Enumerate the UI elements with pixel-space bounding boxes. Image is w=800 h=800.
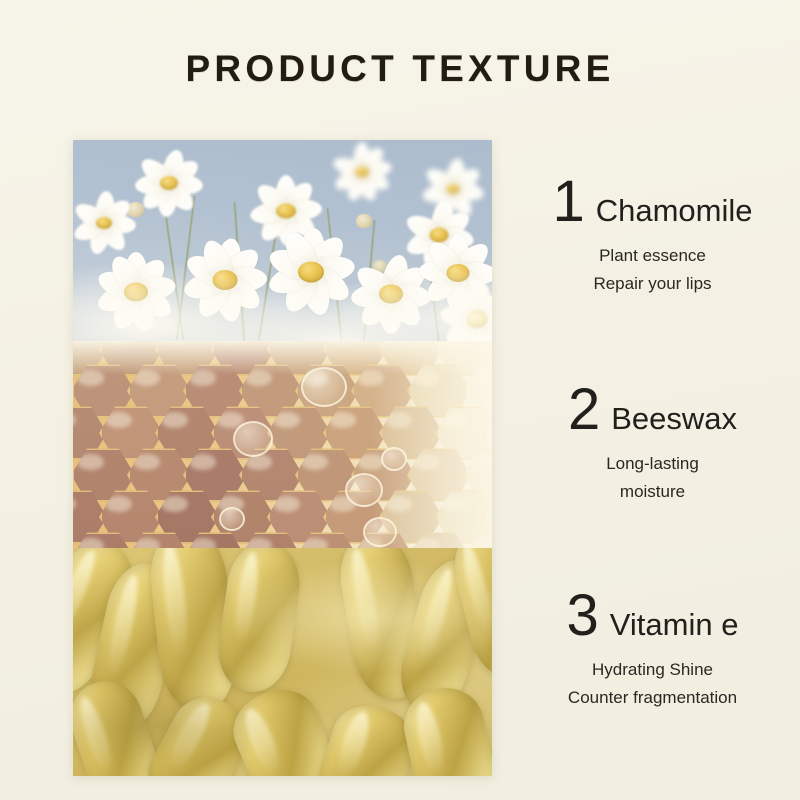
product-texture-poster: PRODUCT TEXTURE (0, 0, 800, 800)
ingredient-number: 2 (568, 384, 600, 436)
photo-chamomile (73, 140, 492, 341)
photo-haze (73, 140, 492, 341)
ingredient-subtitle: moisture (505, 478, 800, 506)
ingredient-subtitles: Plant essence Repair your lips (505, 242, 800, 298)
ingredient-title: Beeswax (611, 403, 737, 434)
ingredient-subtitle: Counter fragmentation (505, 684, 800, 712)
photo-vitamin-art (73, 548, 492, 776)
ingredient-list: 1 Chamomile Plant essence Repair your li… (505, 140, 800, 776)
ingredient-subtitle: Long-lasting (505, 450, 800, 478)
photo-chamomile-art (73, 140, 492, 341)
ingredient-subtitles: Hydrating Shine Counter fragmentation (505, 656, 800, 712)
ingredient-subtitles: Long-lasting moisture (505, 450, 800, 506)
page-title: PRODUCT TEXTURE (186, 48, 615, 90)
photo-vitamin-capsules (73, 548, 492, 776)
title-container: PRODUCT TEXTURE (0, 48, 800, 90)
honeycomb-highlight-right (372, 341, 492, 548)
ingredient-number: 1 (552, 176, 584, 228)
ingredient-title: Vitamin e (610, 609, 739, 640)
ingredient-subtitle: Hydrating Shine (505, 656, 800, 684)
oil-glow (73, 548, 492, 776)
ingredient-heading: 2 Beeswax (505, 384, 800, 436)
honey-droplet (233, 421, 273, 457)
ingredient-item-1: 1 Chamomile Plant essence Repair your li… (505, 176, 800, 298)
ingredient-item-2: 2 Beeswax Long-lasting moisture (505, 384, 800, 506)
ingredient-heading: 1 Chamomile (505, 176, 800, 228)
ingredient-number: 3 (567, 590, 599, 642)
ingredient-subtitle: Plant essence (505, 242, 800, 270)
ingredient-title: Chamomile (596, 195, 753, 226)
photo-honeycomb (73, 341, 492, 548)
photo-honeycomb-art (73, 341, 492, 548)
honey-droplet (219, 507, 245, 531)
photo-stack (73, 140, 492, 776)
ingredient-heading: 3 Vitamin e (505, 590, 800, 642)
ingredient-subtitle: Repair your lips (505, 270, 800, 298)
ingredient-item-3: 3 Vitamin e Hydrating Shine Counter frag… (505, 590, 800, 712)
